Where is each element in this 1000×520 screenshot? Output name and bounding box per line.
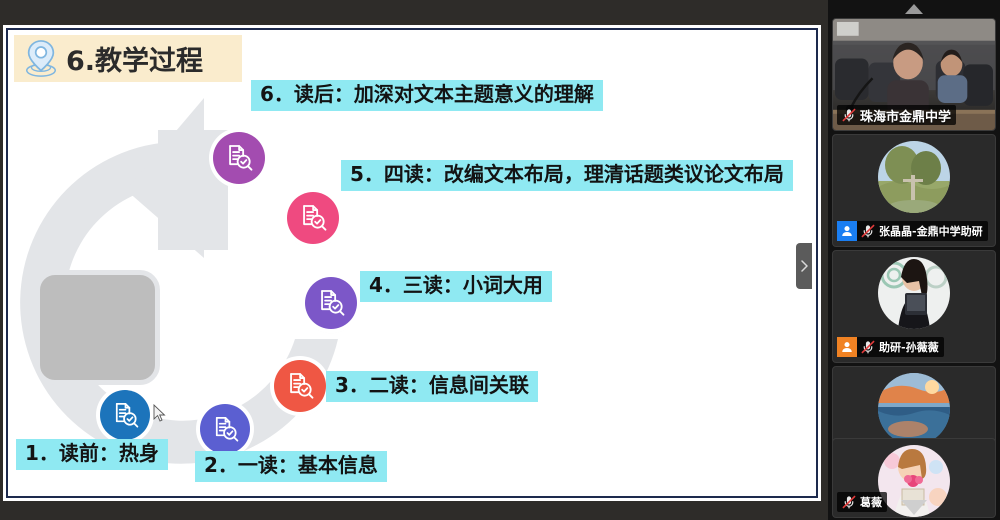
participant-nameplate: 珠海市金鼎中学 (837, 105, 956, 125)
document-search-check-icon (110, 400, 141, 431)
mic-muted-icon (860, 339, 876, 355)
chevron-right-icon (800, 260, 809, 272)
host-badge-icon (837, 221, 857, 241)
mic-muted-icon (841, 107, 857, 123)
participant-name: 张晶晶-金鼎中学助研 (879, 223, 983, 239)
document-search-check-icon (315, 287, 347, 319)
scroll-up-button[interactable] (828, 0, 1000, 18)
document-search-check-icon (284, 370, 316, 402)
page-title: 6.教学过程 (66, 39, 203, 78)
meeting-window: 6.教学过程 (0, 0, 1000, 520)
participants-filmstrip[interactable]: 珠海市金鼎中学 (828, 0, 1000, 520)
step-badge-3[interactable] (274, 360, 326, 412)
document-search-check-icon (223, 142, 255, 174)
document-search-check-icon (210, 414, 241, 445)
slide-header: 6.教学过程 (14, 35, 242, 82)
step-badge-2[interactable] (200, 404, 250, 454)
triangle-down-icon (901, 500, 927, 515)
screen-share-area: 6.教学过程 (0, 0, 828, 520)
circular-arrow-graphic (8, 90, 338, 480)
collapse-sidebar-handle[interactable] (796, 243, 812, 289)
document-search-check-icon (297, 202, 329, 234)
co-host-badge-icon (837, 337, 857, 357)
step-label-2: 2．一读：基本信息 (195, 451, 387, 482)
step-label-1: 1．读前：热身 (16, 439, 168, 470)
participant-tile[interactable]: 珠海市金鼎中学 (832, 18, 996, 131)
step-badge-4[interactable] (305, 277, 357, 329)
mic-muted-icon (860, 223, 876, 239)
step-label-4: 4．三读：小词大用 (360, 271, 552, 302)
participant-name: 珠海市金鼎中学 (860, 106, 951, 125)
step-label-5: 5．四读：改编文本布局，理清话题类议论文布局 (341, 160, 793, 191)
location-pin-icon (22, 38, 60, 80)
avatar (878, 141, 950, 213)
participant-tile[interactable]: 张晶晶-金鼎中学助研 (832, 134, 996, 247)
participant-nameplate: 张晶晶-金鼎中学助研 (837, 221, 988, 241)
step-label-6: 6．读后：加深对文本主题意义的理解 (251, 80, 603, 111)
avatar (878, 373, 950, 445)
shared-slide[interactable]: 6.教学过程 (6, 28, 818, 498)
participant-nameplate: 助研-孙薇薇 (837, 337, 944, 357)
step-label-3: 3．二读：信息间关联 (326, 371, 538, 402)
step-badge-6[interactable] (213, 132, 265, 184)
scroll-down-button[interactable] (828, 494, 1000, 520)
step-badge-5[interactable] (287, 192, 339, 244)
avatar (878, 257, 950, 329)
step-badge-1[interactable] (100, 390, 150, 440)
triangle-up-icon (905, 4, 923, 14)
participant-name: 助研-孙薇薇 (879, 339, 939, 355)
participant-tile[interactable]: 助研-孙薇薇 (832, 250, 996, 363)
mouse-cursor (153, 404, 166, 422)
slide-placeholder-box (35, 270, 160, 385)
